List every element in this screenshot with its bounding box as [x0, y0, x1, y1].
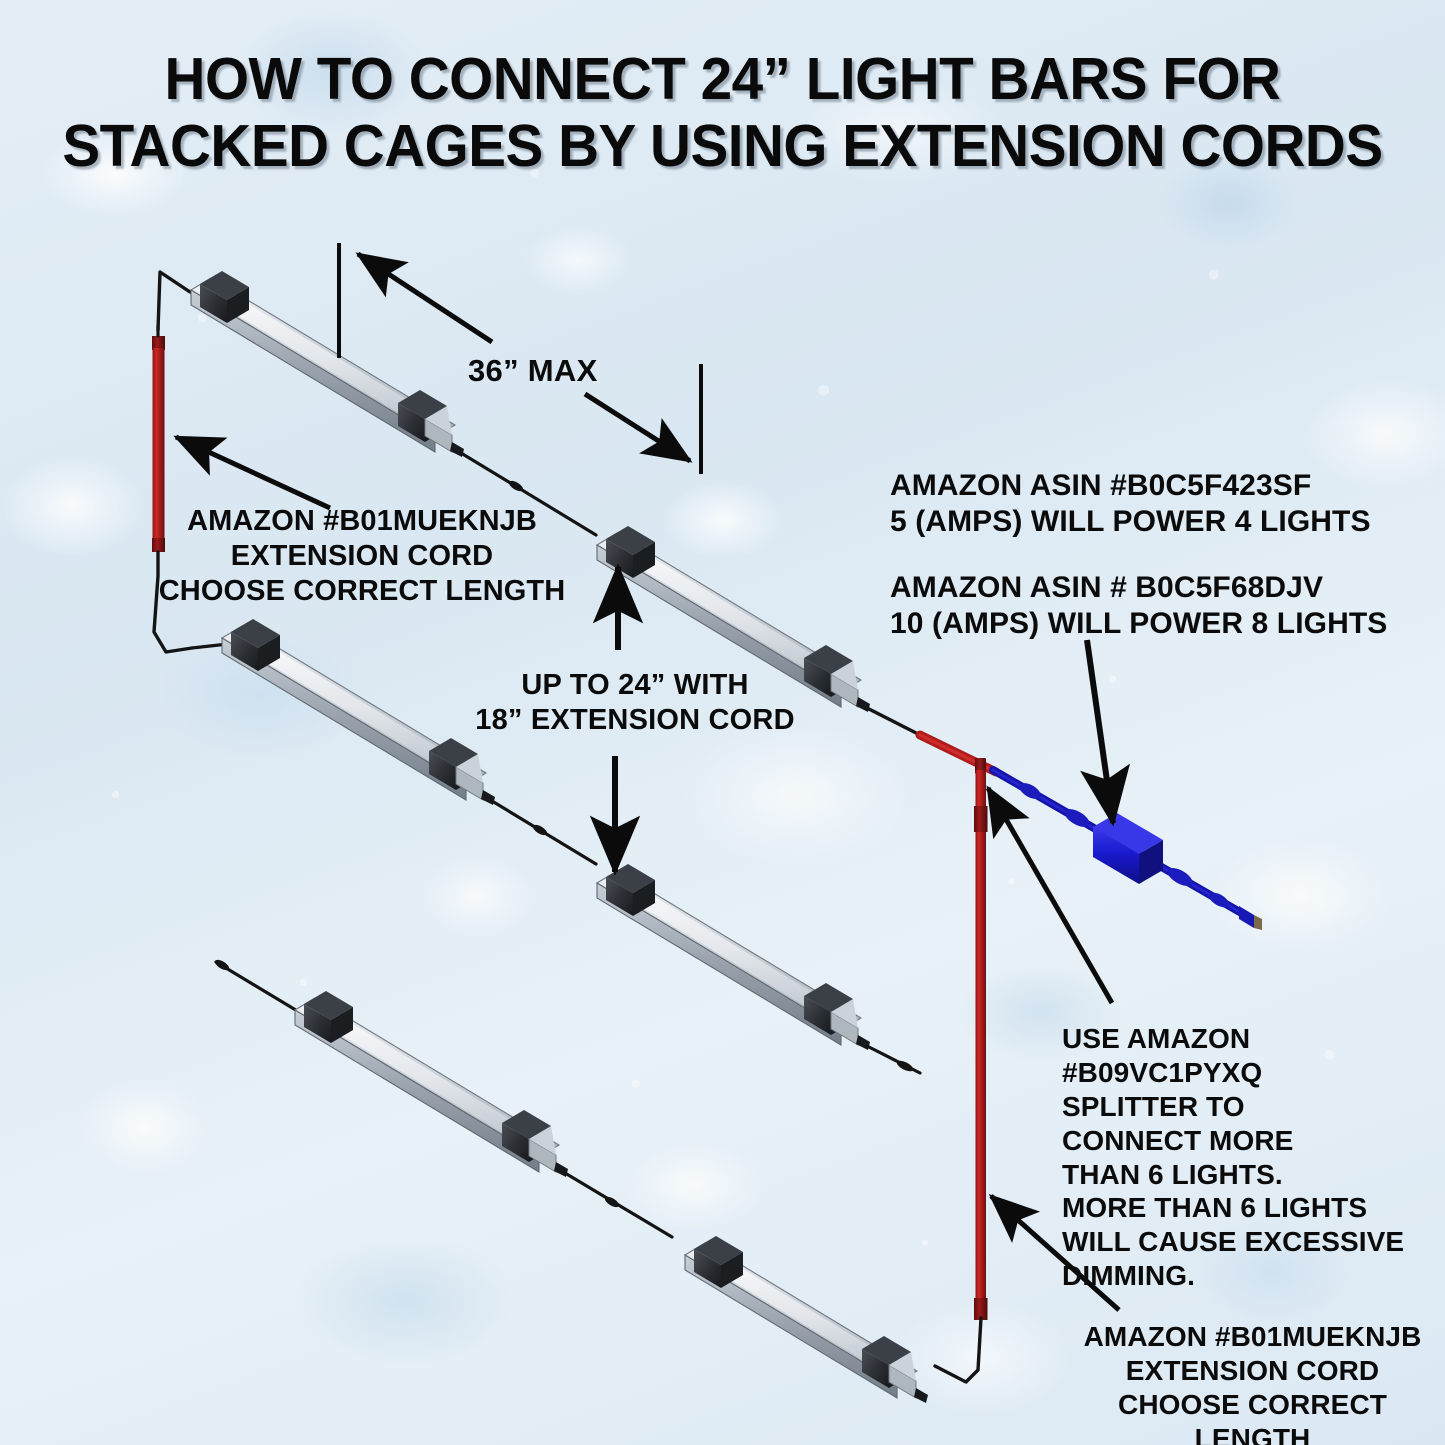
row3-interconnect-cord	[565, 1173, 672, 1237]
infographic-canvas: HOW TO CONNECT 24” LIGHT BARS FOR STACKE…	[0, 0, 1445, 1445]
label-extension-cord-bottom: AMAZON #B01MUEKNJB EXTENSION CORD CHOOSE…	[1060, 1320, 1445, 1445]
power-adapter-assembly	[993, 770, 1262, 930]
label-power-supply-10a: AMAZON ASIN # B0C5F68DJV 10 (AMPS) WILL …	[890, 570, 1387, 643]
leader-extension-cord-left	[176, 437, 330, 508]
row2-interconnect-cord	[492, 801, 596, 864]
row1-left-lead-cord	[158, 272, 190, 330]
label-36-max: 36” MAX	[468, 352, 598, 390]
label-spacing-note: UP TO 24” WITH 18” EXTENSION CORD	[470, 668, 800, 738]
extension-cord-right	[935, 770, 988, 1382]
label-splitter-note: USE AMAZON #B09VC1PYXQ SPLITTER TO CONNE…	[1062, 1022, 1445, 1293]
label-power-supply-5a: AMAZON ASIN #B0C5F423SF 5 (AMPS) WILL PO…	[890, 468, 1371, 541]
row2-output-cord	[867, 1046, 920, 1073]
label-extension-cord-left: AMAZON #B01MUEKNJB EXTENSION CORD CHOOSE…	[152, 504, 572, 609]
light-bar-3b	[685, 1236, 928, 1403]
power-adapter-brick	[1093, 813, 1163, 884]
light-bar-2a	[222, 619, 495, 805]
leader-power-adapter	[1087, 640, 1113, 823]
row1-output-cord	[867, 708, 922, 736]
leader-splitter	[988, 788, 1112, 1003]
light-bar-3a	[295, 991, 568, 1177]
row3-left-lead-cord	[213, 958, 304, 1015]
light-bar-2b	[597, 864, 870, 1050]
